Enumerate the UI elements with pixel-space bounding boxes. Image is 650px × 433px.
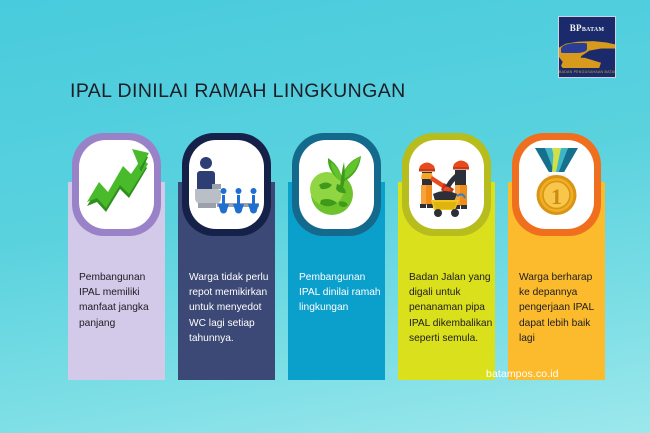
green-globe-icon [299, 140, 374, 229]
infographic-canvas: BPBATAM BADAN PENGUSAHAAN BATAM IPAL DIN… [0, 0, 650, 433]
card-text: Badan Jalan yang digali untuk penanaman … [409, 270, 495, 346]
card-icon-disc [189, 140, 264, 229]
bp-batam-logo: BPBATAM BADAN PENGUSAHAAN BATAM [558, 16, 616, 78]
logo-wordmark-batam: BATAM [582, 27, 604, 33]
info-card-5[interactable]: 1 Warga berharap ke depannya pengerjaan … [508, 133, 605, 380]
card-text: Warga tidak perlu repot memikirkan untuk… [189, 270, 275, 346]
logo-tagline-bar: BADAN PENGUSAHAAN BATAM [559, 68, 615, 77]
watermark: batampos.co.id [486, 368, 559, 380]
card-text: Pembangunan IPAL memiliki manfaat jangka… [79, 270, 165, 331]
logo-wordmark: BPBATAM [559, 23, 615, 33]
toilet-pipe-icon [189, 140, 264, 229]
logo-swoosh-shape [561, 43, 587, 53]
card-icon-disc [299, 140, 374, 229]
info-card-4[interactable]: Badan Jalan yang digali untuk penanaman … [398, 133, 495, 380]
info-card-3[interactable]: Pembangunan IPAL dinilai ramah lingkunga… [288, 133, 385, 380]
card-text: Warga berharap ke depannya pengerjaan IP… [519, 270, 605, 346]
info-card-2[interactable]: Warga tidak perlu repot memikirkan untuk… [178, 133, 275, 380]
card-icon-disc [79, 140, 154, 229]
svg-text:1: 1 [551, 184, 562, 209]
gold-medal-icon: 1 [519, 140, 594, 229]
logo-tagline: BADAN PENGUSAHAAN BATAM [559, 68, 615, 77]
card-text: Pembangunan IPAL dinilai ramah lingkunga… [299, 270, 385, 316]
logo-wordmark-bp: BP [570, 23, 582, 33]
page-title: IPAL DINILAI RAMAH LINGKUNGAN [70, 80, 406, 103]
road-workers-icon [409, 140, 484, 229]
card-icon-disc [409, 140, 484, 229]
info-card-1[interactable]: Pembangunan IPAL memiliki manfaat jangka… [68, 133, 165, 380]
card-icon-disc: 1 [519, 140, 594, 229]
growth-arrow-icon [79, 140, 154, 229]
